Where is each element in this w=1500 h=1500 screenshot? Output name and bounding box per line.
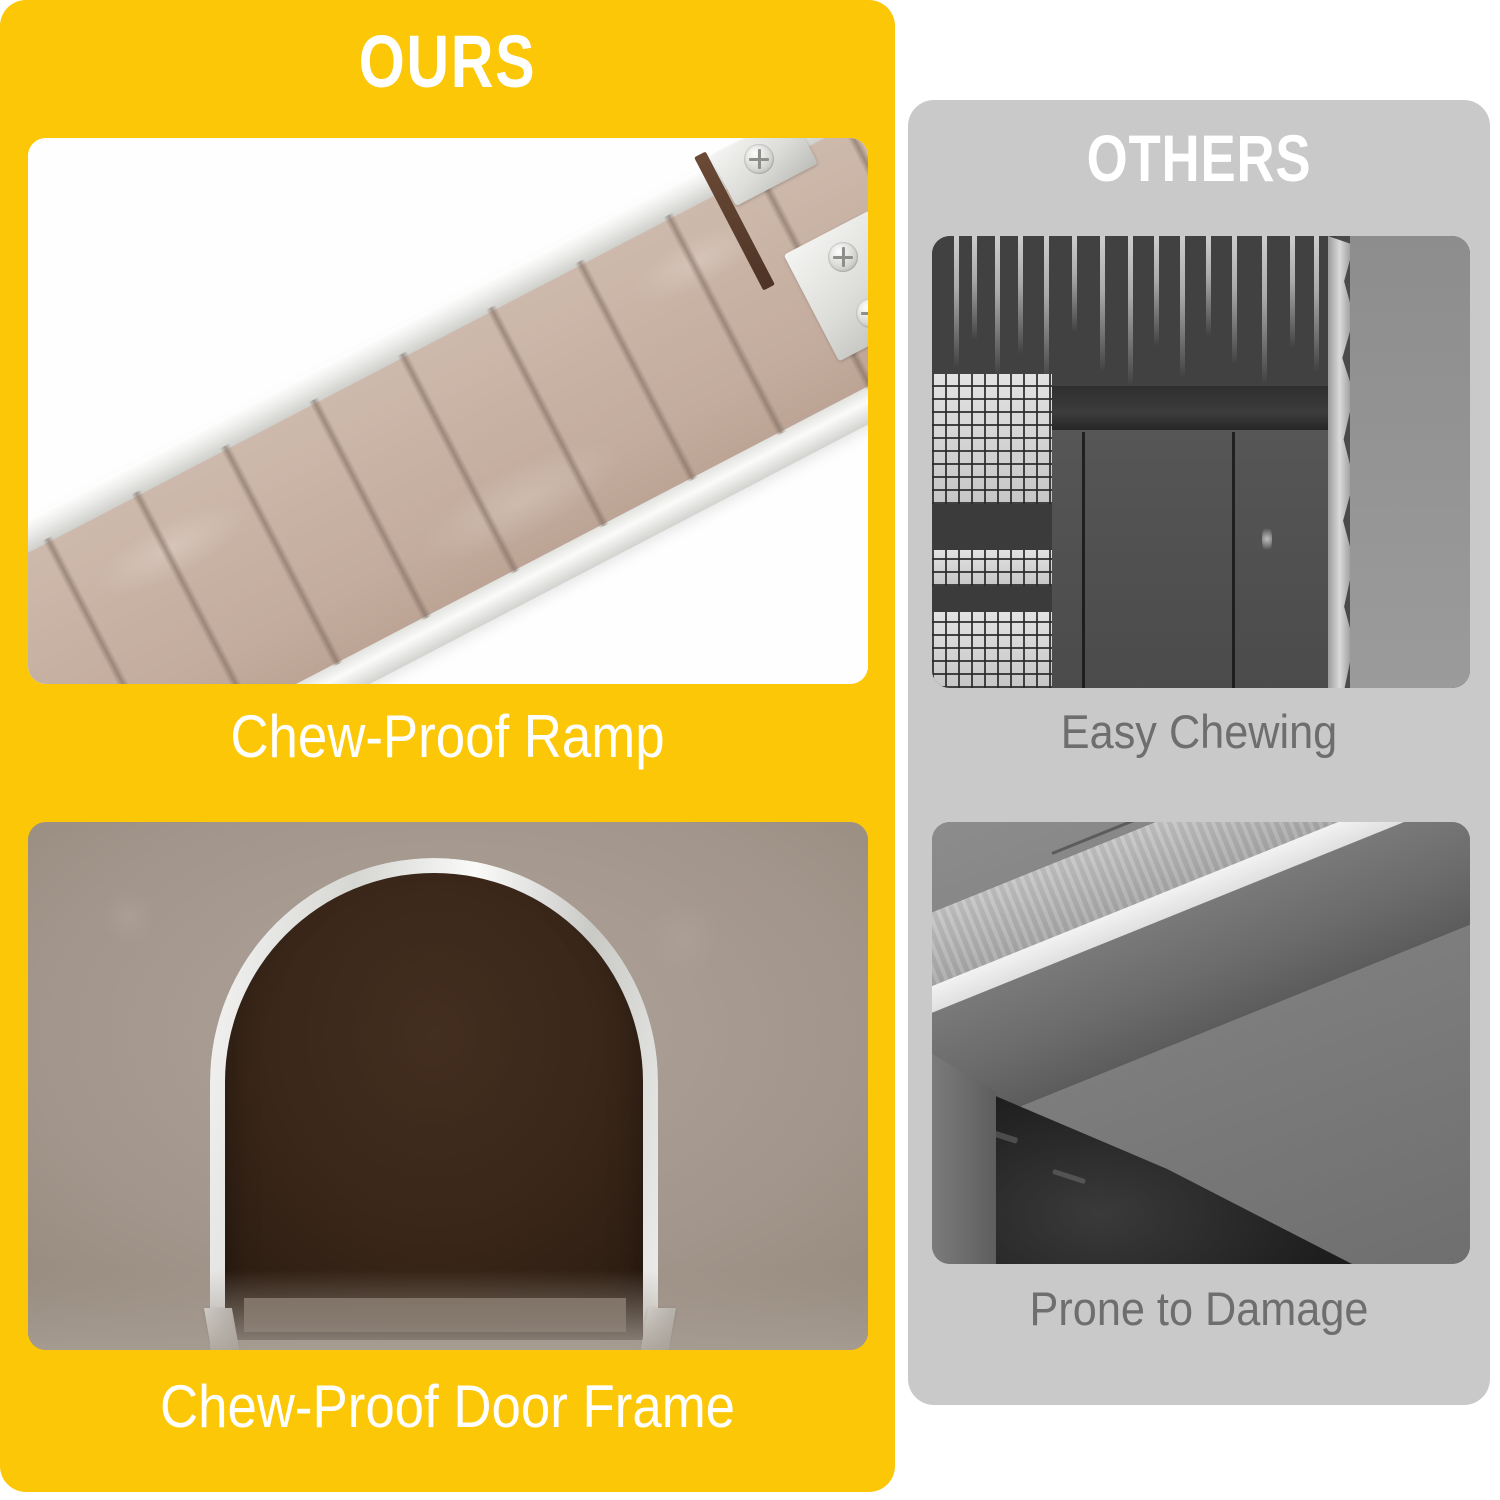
chew-scratch <box>995 236 1000 376</box>
gnawed-band <box>932 236 1336 386</box>
cage-shelf-shadow <box>932 504 1052 550</box>
chew-scratch <box>1262 236 1267 384</box>
chew-scratch <box>1154 236 1159 346</box>
chew-scratch <box>1128 236 1133 386</box>
chew-scratch <box>1180 236 1185 378</box>
wire-mesh-panel <box>932 550 1052 586</box>
chew-scene <box>932 236 1470 688</box>
cage-shelf-shadow <box>932 586 1052 612</box>
caption-chew-proof-ramp: Chew-Proof Ramp <box>54 690 842 782</box>
caption-chew-proof-door-frame: Chew-Proof Door Frame <box>54 1358 842 1454</box>
chew-scratch <box>1044 236 1049 382</box>
others-header: OTHERS <box>966 118 1432 198</box>
chew-scratch <box>1100 236 1105 372</box>
ramp-scene <box>28 138 868 684</box>
wire-mesh-panel <box>932 612 1052 688</box>
ramp-surface-texture <box>28 138 868 684</box>
chew-scratch <box>1206 236 1211 336</box>
door-floor-shadow <box>28 1270 868 1350</box>
ramp-screw <box>828 242 858 272</box>
damage-scene <box>932 822 1470 1264</box>
chew-scratch <box>1314 236 1319 372</box>
chew-scratch <box>972 236 977 340</box>
plank-seam <box>1082 432 1085 688</box>
chew-scratch <box>1018 236 1023 354</box>
chew-proof-door-frame-photo <box>28 822 868 1350</box>
chew-proof-ramp-photo <box>28 138 868 684</box>
caption-easy-chewing: Easy Chewing <box>931 694 1466 768</box>
wood-chip <box>1052 1169 1086 1184</box>
chew-nick <box>1262 524 1272 554</box>
easy-chewing-photo <box>932 236 1470 688</box>
ours-panel: OURS <box>0 0 895 1492</box>
plank-seam <box>1232 432 1235 688</box>
ours-header: OURS <box>90 18 806 104</box>
wire-mesh-panel <box>932 374 1052 504</box>
chew-scratch <box>1290 236 1295 348</box>
prone-to-damage-photo <box>932 822 1470 1264</box>
chew-scratch <box>1232 236 1237 364</box>
chew-scratch <box>1072 236 1077 332</box>
caption-prone-to-damage: Prone to Damage <box>931 1268 1466 1348</box>
ramp-board <box>28 138 868 684</box>
ramp-screw <box>744 144 774 174</box>
cage-background <box>1350 236 1470 688</box>
comparison-infographic: OURS <box>0 0 1500 1500</box>
chew-scratch <box>954 236 959 368</box>
